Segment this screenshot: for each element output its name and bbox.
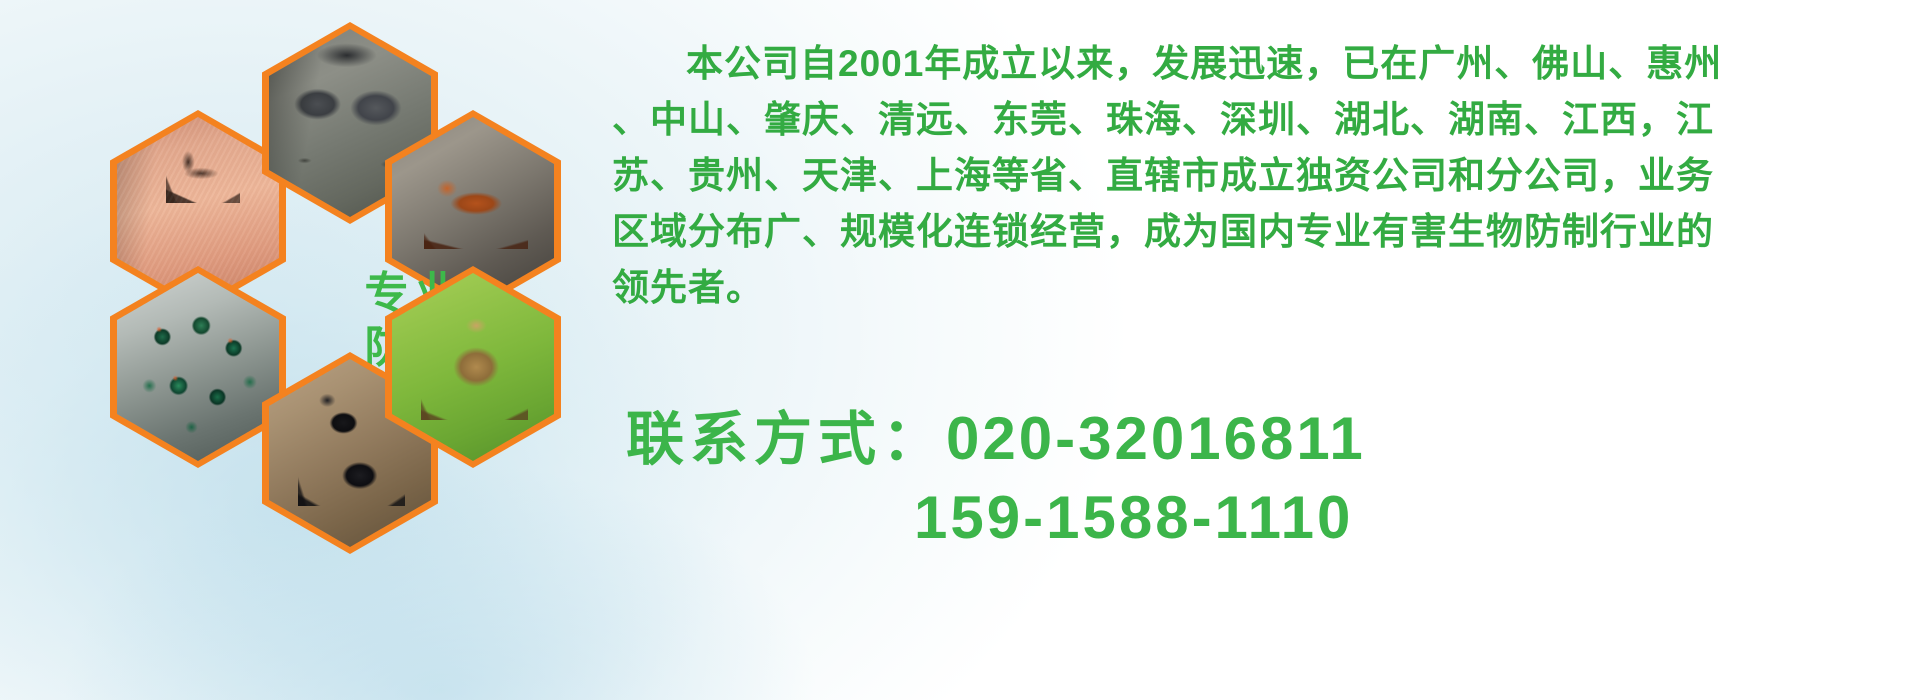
contact-secondary-row: 159-1588-1110 [626, 479, 1916, 558]
contact-label: 联系方式： [626, 407, 946, 472]
description-line-3: 苏、贵州、天津、上海等省、直辖市成立独资公司和分公司，业务 [612, 148, 1912, 204]
hex-cell-stinkbug [385, 266, 561, 468]
description-line-4: 区域分布广、规模化连锁经营，成为国内专业有害生物防制行业的 [612, 204, 1912, 260]
company-description: 本公司自2001年成立以来，发展迅速，已在广州、佛山、惠州 、中山、肇庆、清远、… [612, 36, 1912, 316]
description-line-1: 本公司自2001年成立以来，发展迅速，已在广州、佛山、惠州 [612, 36, 1912, 92]
honeycomb-collage: 专业 防治 [0, 0, 620, 580]
phone-secondary[interactable]: 159-1588-1110 [914, 484, 1353, 551]
description-line-5: 领先者。 [612, 260, 1912, 316]
promo-banner: 专业 防治 本公司自2001年成立以来，发展迅速，已在广州、佛山、惠州 、中山、… [0, 0, 1920, 700]
description-line-2: 、中山、肇庆、清远、东莞、珠海、深圳、湖北、湖南、江西，江 [612, 92, 1912, 148]
hex-cell-flies [110, 266, 286, 468]
contact-primary-row: 联系方式：020-32016811 [626, 400, 1916, 479]
contact-block: 联系方式：020-32016811 159-1588-1110 [626, 400, 1916, 558]
company-description-block: 本公司自2001年成立以来，发展迅速，已在广州、佛山、惠州 、中山、肇庆、清远、… [612, 36, 1912, 316]
phone-primary[interactable]: 020-32016811 [946, 405, 1366, 472]
